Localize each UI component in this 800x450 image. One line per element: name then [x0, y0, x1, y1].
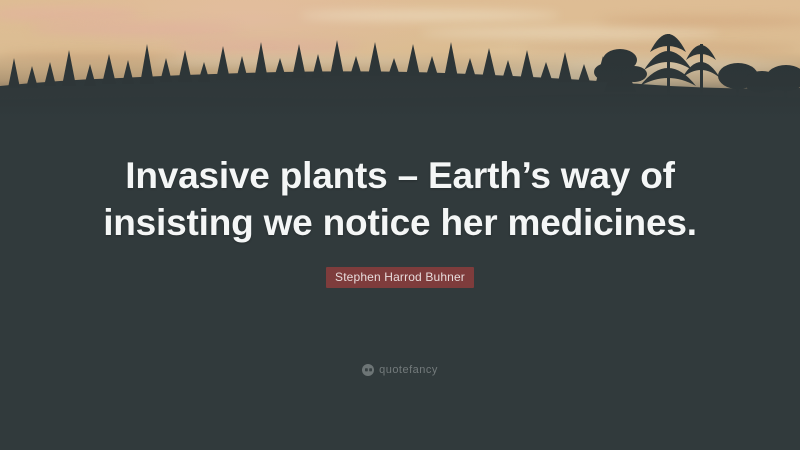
author-name-badge[interactable]: Stephen Harrod Buhner	[326, 267, 474, 288]
quote-mark-circle-icon	[362, 364, 374, 376]
quote-text: Invasive plants – Earth’s way of insisti…	[0, 152, 800, 246]
watermark[interactable]: quotefancy	[0, 364, 800, 376]
author-attribution: Stephen Harrod Buhner	[0, 267, 800, 288]
quote-poster: Invasive plants – Earth’s way of insisti…	[0, 0, 800, 450]
watermark-brand-label: quotefancy	[379, 364, 438, 376]
